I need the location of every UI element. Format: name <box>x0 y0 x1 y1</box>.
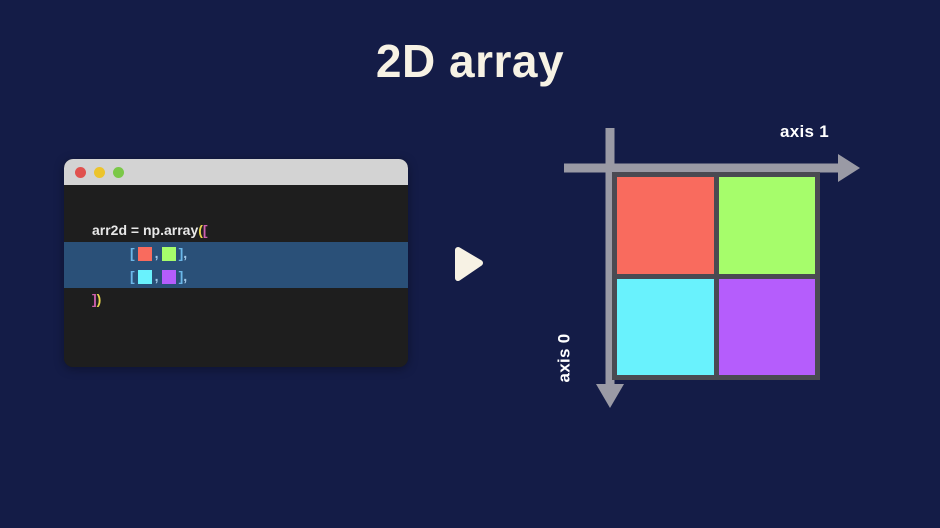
code-close-paren: ) <box>97 288 102 311</box>
cell-0-0 <box>617 177 714 274</box>
page-title: 2D array <box>0 34 940 88</box>
swatch-red <box>138 247 152 261</box>
minimize-dot-icon[interactable] <box>94 167 105 178</box>
axis-diagram: axis 1 axis 0 <box>560 110 880 430</box>
cell-0-1 <box>719 177 816 274</box>
row-comma: , <box>155 242 159 265</box>
axis-0-label: axis 0 <box>555 333 575 382</box>
row-comma: , <box>155 265 159 288</box>
cell-1-1 <box>719 279 816 376</box>
code-line-2: [,], <box>64 242 408 265</box>
row-open-bracket: [ <box>130 265 135 288</box>
array-grid <box>612 172 820 380</box>
code-editor-body[interactable]: arr2d = np.array([ [,], [,], ]) <box>64 185 408 367</box>
swatch-green <box>162 247 176 261</box>
code-line-1: arr2d = np.array([ <box>64 219 408 242</box>
code-window: arr2d = np.array([ [,], [,], ]) <box>64 159 408 367</box>
code-open-bracket: [ <box>203 219 208 242</box>
close-dot-icon[interactable] <box>75 167 86 178</box>
code-window-titlebar <box>64 159 408 185</box>
row-trailing-comma: , <box>183 242 187 265</box>
code-identifier: arr2d = np.array <box>92 219 198 242</box>
code-line-3: [,], <box>64 265 408 288</box>
row-trailing-comma: , <box>183 265 187 288</box>
maximize-dot-icon[interactable] <box>113 167 124 178</box>
swatch-cyan <box>138 270 152 284</box>
play-triangle-icon <box>452 246 486 282</box>
axis-1-label: axis 1 <box>780 122 829 142</box>
swatch-purple <box>162 270 176 284</box>
row-open-bracket: [ <box>130 242 135 265</box>
cell-1-0 <box>617 279 714 376</box>
code-line-4: ]) <box>64 288 408 311</box>
